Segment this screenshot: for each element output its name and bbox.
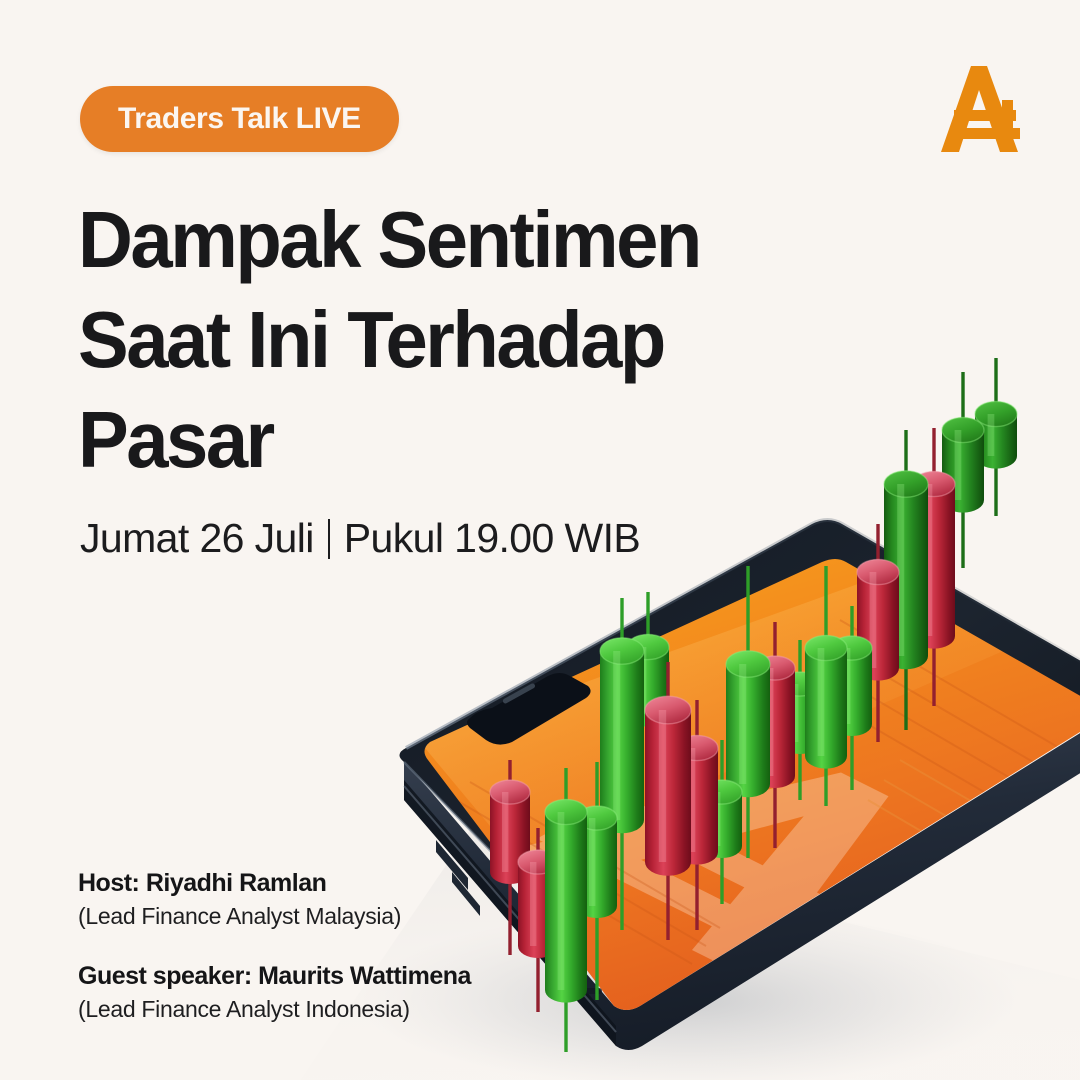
- candle-cap: [518, 850, 558, 874]
- headline-line-1: Dampak Sentimen: [78, 190, 800, 290]
- candle-cap: [627, 634, 669, 659]
- candle-body: [884, 484, 928, 669]
- candle-cap: [884, 471, 928, 497]
- candle-cap: [805, 635, 847, 660]
- candle-cap: [545, 799, 587, 824]
- candle-13: [805, 566, 847, 806]
- phone-notch: [467, 673, 591, 745]
- schedule-line: Jumat 26 Juli Pukul 19.00 WIB: [80, 515, 640, 562]
- candle-cap: [832, 636, 872, 660]
- candle-2: [518, 828, 558, 1012]
- credits-block: Host: Riyadhi Ramlan (Lead Finance Analy…: [78, 866, 471, 1026]
- candle-15: [857, 524, 899, 742]
- candle-body: [832, 648, 872, 736]
- candle-highlight: [589, 818, 595, 906]
- page-title: Dampak Sentimen Saat Ini Terhadap Pasar: [78, 190, 838, 490]
- candle-10: [726, 566, 770, 858]
- candle-5: [600, 598, 644, 930]
- candle-highlight: [926, 484, 933, 636]
- schedule-time: Pukul 19.00 WIB: [344, 515, 640, 562]
- candle-body: [577, 818, 617, 918]
- candle-18: [942, 372, 984, 568]
- live-badge[interactable]: Traders Talk LIVE: [80, 86, 399, 152]
- candle-highlight: [714, 792, 720, 846]
- candle-1: [490, 760, 530, 955]
- candle-9: [702, 740, 742, 904]
- brand-logo: [928, 58, 1032, 162]
- candle-highlight: [530, 862, 536, 946]
- credit-host: Host: Riyadhi Ramlan (Lead Finance Analy…: [78, 866, 471, 933]
- credit-host-name: Host: Riyadhi Ramlan: [78, 866, 471, 900]
- candle-highlight: [558, 812, 565, 990]
- candle-highlight: [988, 414, 995, 456]
- candle-cap: [857, 559, 899, 584]
- candle-body: [702, 792, 742, 858]
- candle-cap: [942, 417, 984, 442]
- credit-guest-role: (Lead Finance Analyst Indonesia): [78, 993, 471, 1026]
- candle-6: [627, 592, 669, 792]
- candle-cap: [490, 780, 530, 804]
- credit-host-role: (Lead Finance Analyst Malaysia): [78, 900, 471, 933]
- candle-body: [600, 651, 644, 833]
- candle-highlight: [502, 792, 508, 872]
- aetos-a-logo-icon: [928, 58, 1032, 162]
- candle-7: [645, 662, 691, 940]
- candle-cap: [702, 780, 742, 804]
- candle-highlight: [739, 664, 746, 784]
- credit-guest-name: Guest speaker: Maurits Wattimena: [78, 959, 471, 993]
- candle-highlight: [689, 748, 696, 852]
- candle-body: [518, 862, 558, 958]
- candle-body: [942, 430, 984, 513]
- candle-highlight: [792, 684, 798, 742]
- candle-body: [676, 748, 718, 865]
- candle-11: [755, 622, 795, 848]
- candle-highlight: [955, 430, 962, 500]
- candle-highlight: [844, 648, 850, 724]
- candle-3: [545, 768, 587, 1052]
- candle-cap: [577, 806, 617, 830]
- candle-body: [780, 684, 820, 754]
- candle-body: [726, 664, 770, 797]
- candle-body: [975, 414, 1017, 469]
- candle-body: [805, 648, 847, 769]
- candle-highlight: [818, 648, 825, 756]
- candle-cap: [755, 656, 795, 680]
- candle-4: [577, 762, 617, 1000]
- screen-logo-watermark: [497, 721, 1016, 991]
- candle-17: [913, 428, 955, 706]
- candle-body: [913, 484, 955, 649]
- candle-8: [676, 700, 718, 930]
- credit-guest: Guest speaker: Maurits Wattimena (Lead F…: [78, 959, 471, 1026]
- candle-cap: [645, 696, 691, 724]
- candle-cap: [780, 672, 820, 696]
- candle-highlight: [613, 651, 620, 820]
- candle-16: [884, 430, 928, 730]
- candle-highlight: [897, 484, 904, 656]
- candle-body: [645, 710, 691, 876]
- candle-highlight: [767, 668, 773, 776]
- schedule-separator: [328, 519, 330, 559]
- candle-highlight: [640, 647, 647, 714]
- candle-cap: [676, 735, 718, 760]
- candle-body: [857, 572, 899, 681]
- candle-cap: [975, 401, 1017, 426]
- candle-highlight: [870, 572, 877, 668]
- live-badge-label: Traders Talk LIVE: [118, 102, 361, 136]
- headline-line-2: Saat Ini Terhadap: [78, 290, 800, 390]
- candle-12: [780, 640, 820, 800]
- candle-cap: [600, 638, 644, 664]
- candle-19: [975, 358, 1017, 516]
- schedule-date: Jumat 26 Juli: [80, 515, 314, 562]
- smartphone-device: [399, 520, 1080, 1050]
- candle-body: [627, 647, 669, 727]
- candle-highlight: [659, 710, 666, 862]
- candle-cap: [913, 471, 955, 496]
- poster-canvas: Traders Talk LIVE Dampak Sentimen Saat I…: [0, 0, 1080, 1080]
- candle-body: [755, 668, 795, 788]
- candle-body: [490, 792, 530, 884]
- candle-cap: [726, 651, 770, 677]
- headline-line-3: Pasar: [78, 390, 800, 490]
- candle-body: [545, 812, 587, 1003]
- candle-14: [832, 606, 872, 790]
